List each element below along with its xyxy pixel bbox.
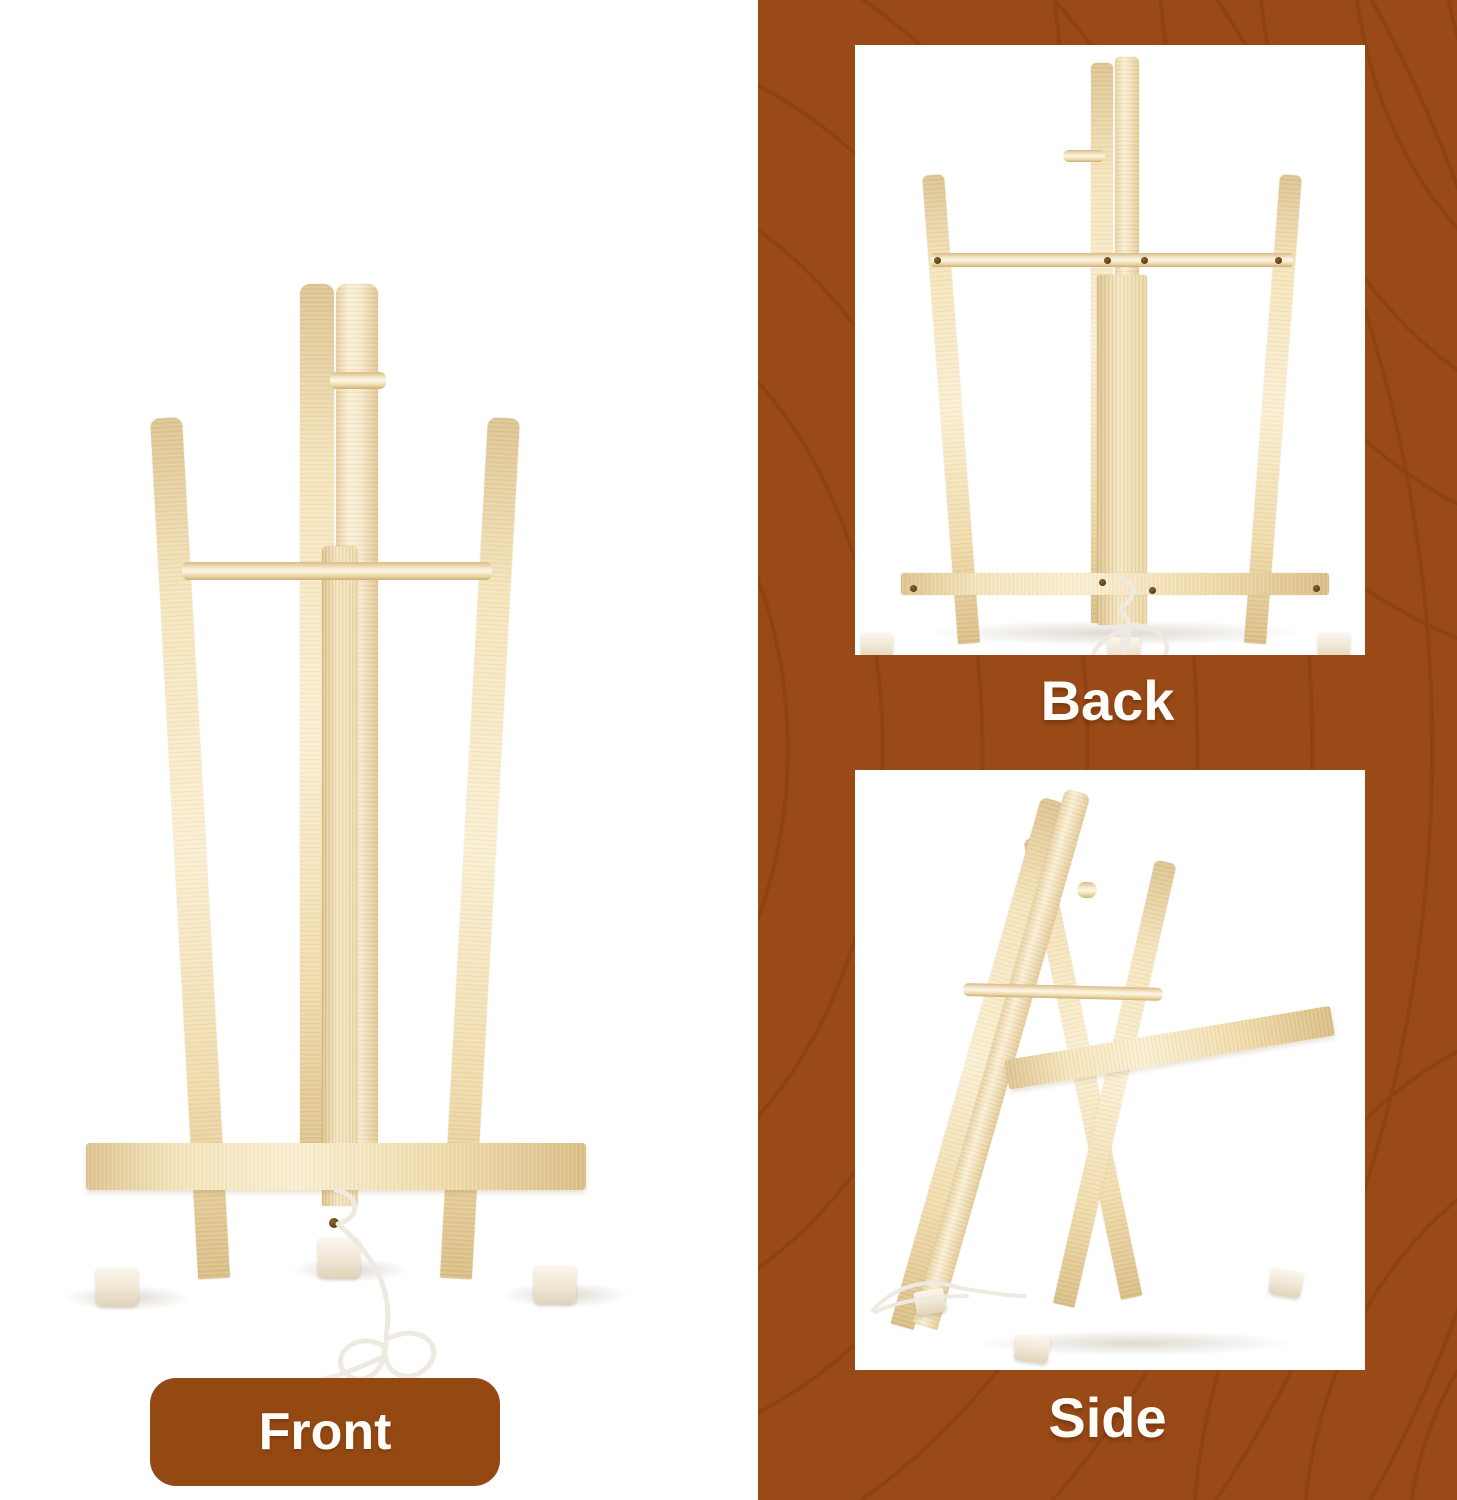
screw-dot-right-lower xyxy=(1313,585,1320,592)
back-top-dowel xyxy=(1063,150,1105,162)
back-label: Back xyxy=(758,668,1457,733)
screw-dot-left-lower xyxy=(910,585,917,592)
screw-dot-left-upper xyxy=(934,257,941,264)
screw-dot-center2-upper xyxy=(1141,257,1148,264)
back-white-cord-tie xyxy=(1070,565,1230,655)
upper-dowel-rail xyxy=(330,372,386,389)
front-view-stage: Front xyxy=(0,0,758,1500)
front-label-text: Front xyxy=(259,1402,392,1462)
side-label: Side xyxy=(758,1385,1457,1450)
side-foot-cap-front xyxy=(1268,1267,1304,1298)
back-foot-cap-left xyxy=(861,633,893,655)
side-top-knob-dowel xyxy=(1077,882,1097,898)
screw-dot-center-upper xyxy=(1104,257,1111,264)
white-cord-tie xyxy=(300,1180,500,1395)
back-label-text: Back xyxy=(1041,669,1175,732)
side-label-text: Side xyxy=(1048,1386,1166,1449)
side-white-cord-tie xyxy=(855,1240,1055,1350)
foot-cap-right xyxy=(534,1266,576,1304)
back-foot-cap-right xyxy=(1318,633,1350,655)
post-slider-block xyxy=(322,546,358,1206)
screw-dot-right-upper xyxy=(1275,257,1282,264)
lower-dowel-rail xyxy=(182,562,492,580)
front-label-badge: Front xyxy=(150,1378,500,1486)
right-brown-panel: Back xyxy=(758,0,1457,1500)
photo-side-view xyxy=(855,770,1365,1370)
photo-back-view xyxy=(855,45,1365,655)
back-upper-crossbar xyxy=(931,253,1293,267)
foot-cap-left xyxy=(96,1268,138,1306)
side-bottom-tray-shelf xyxy=(1005,1006,1335,1090)
